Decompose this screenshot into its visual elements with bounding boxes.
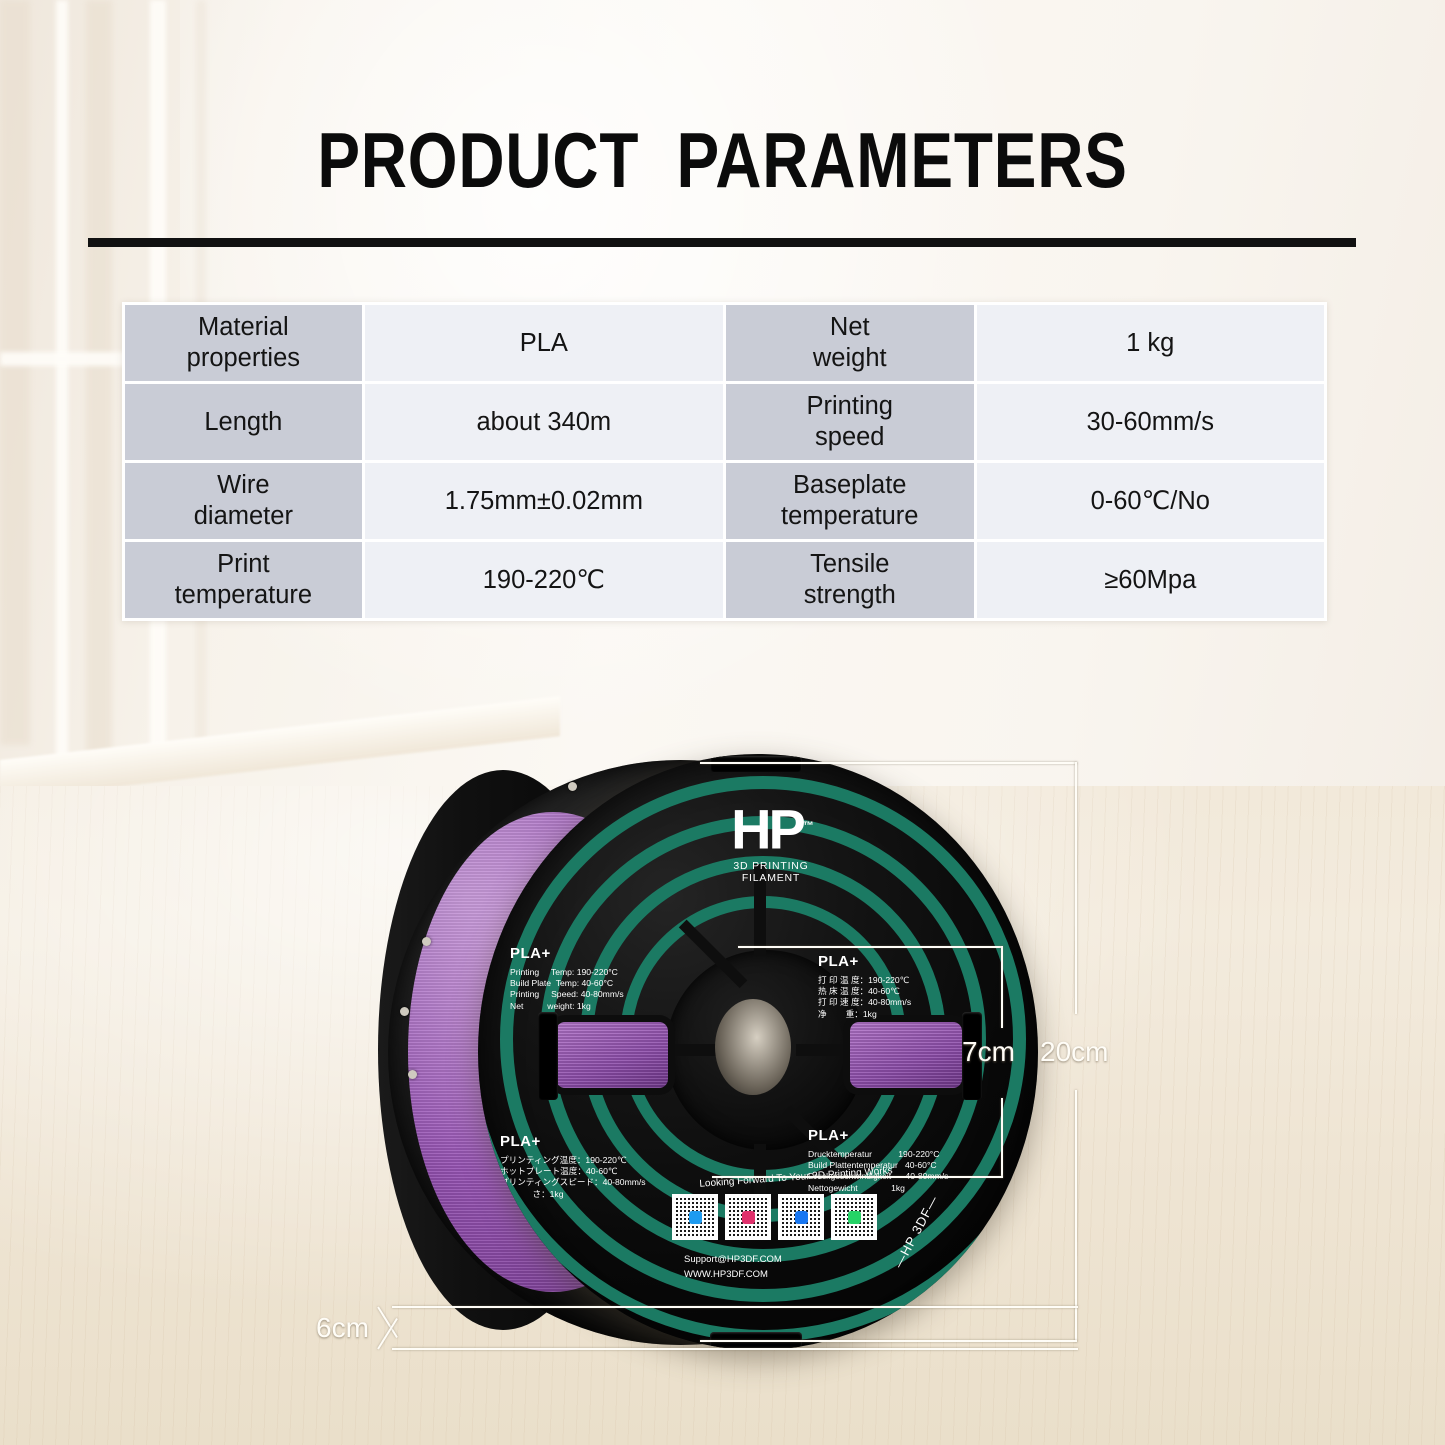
label-japanese: PLA+ プリンティング温度：190-220℃ ホットプレート温度：40-60℃…: [500, 1132, 646, 1200]
whatsapp-qr-icon: [831, 1194, 877, 1240]
spec-value-printing-speed: 30-60mm/s: [977, 384, 1324, 460]
label-zh-title: PLA+: [818, 952, 911, 972]
label-ja-line: 重 さ：1kg: [500, 1189, 646, 1200]
label-english: PLA+ Printing Temp: 190-220°C Build Plat…: [510, 944, 624, 1012]
spec-key-tensile-strength: Tensile strength: [726, 542, 974, 618]
hp-logo-subtitle: 3D PRINTING FILAMENT: [706, 860, 836, 884]
dim-7cm-label: 7cm: [962, 1036, 1015, 1068]
spec-value-print-temperature: 190-220℃: [365, 542, 723, 618]
label-chinese: PLA+ 打 印 温 度：190-220℃ 热 床 温 度：40-60℃ 打 印…: [818, 952, 911, 1020]
label-de-title: PLA+: [808, 1126, 948, 1146]
label-en-line: Printing Speed: 40-80mm/s: [510, 989, 624, 1000]
dim-20cm-vertical-lower: [1075, 1090, 1077, 1342]
spec-value-length: about 340m: [365, 384, 723, 460]
hp-logo: HP™ 3D PRINTING FILAMENT: [706, 798, 836, 884]
filament-window-right: [850, 1022, 962, 1088]
spec-key-material-properties: Material properties: [125, 305, 362, 381]
label-ja-title: PLA+: [500, 1132, 646, 1152]
label-zh-line: 打 印 温 度：190-220℃: [818, 975, 911, 986]
label-zh-line: 净 重：1kg: [818, 1009, 911, 1020]
spec-key-wire-diameter: Wire diameter: [125, 463, 362, 539]
dim-20cm-top-lead: [700, 762, 1077, 764]
dim-20cm-label: 20cm: [1040, 1036, 1108, 1068]
facebook-qr-icon: [778, 1194, 824, 1240]
spec-value-wire-diameter: 1.75mm±0.02mm: [365, 463, 723, 539]
spec-key-net-weight: Net weight: [726, 305, 974, 381]
qr-code-group: [672, 1194, 877, 1240]
spec-value-material-properties: PLA: [365, 305, 723, 381]
specification-table: Material properties PLA Net weight 1 kg …: [122, 302, 1327, 621]
dim-7cm-vertical: [1001, 946, 1003, 1028]
header: PRODUCT PARAMETERS: [0, 118, 1445, 202]
flange-screw-icon: [408, 1070, 417, 1079]
spool-front-flange: HP™ 3D PRINTING FILAMENT PLA+ Printing T…: [478, 754, 1038, 1350]
dim-20cm-bottom-lead: [700, 1340, 1077, 1342]
spec-value-baseplate-temperature: 0-60℃/No: [977, 463, 1324, 539]
dim-20cm-vertical: [1075, 762, 1077, 1014]
label-en-title: PLA+: [510, 944, 624, 964]
label-en-line: Printing Temp: 190-220°C: [510, 967, 624, 978]
filament-window-left: [556, 1022, 668, 1088]
title-underline-rule: [88, 238, 1356, 247]
dim-6cm-lower-lead: [392, 1348, 1078, 1350]
window-mullion-vertical-2: [86, 0, 112, 760]
label-ja-line: プリンティングスピード：40-80mm/s: [500, 1177, 646, 1188]
flange-top-slot: [710, 756, 802, 772]
page-title: PRODUCT PARAMETERS: [130, 118, 1315, 202]
spool-center-hole: [715, 999, 791, 1095]
spec-key-length: Length: [125, 384, 362, 460]
dim-6cm-upper-lead: [392, 1306, 1078, 1308]
table-row: Wire diameter 1.75mm±0.02mm Baseplate te…: [125, 463, 1324, 539]
label-ja-line: プリンティング温度：190-220℃: [500, 1155, 646, 1166]
label-de-line: Drucktemperatur 190-220°C: [808, 1149, 948, 1160]
hp-logo-mark: HP™: [706, 798, 836, 858]
dim-7cm-top-lead: [738, 946, 1003, 948]
dim-6cm-label: 6cm: [316, 1312, 369, 1344]
label-en-line: Net weight: 1kg: [510, 1001, 624, 1012]
label-german: PLA+ Drucktemperatur 190-220°C Build Pla…: [808, 1126, 948, 1194]
spec-value-net-weight: 1 kg: [977, 305, 1324, 381]
table-row: Print temperature 190-220℃ Tensile stren…: [125, 542, 1324, 618]
flange-screw-icon: [400, 1007, 409, 1016]
dim-7cm-bottom-lead: [712, 1176, 1003, 1178]
instagram-qr-icon: [725, 1194, 771, 1240]
label-ja-line: ホットプレート温度：40-60℃: [500, 1166, 646, 1177]
table-row: Material properties PLA Net weight 1 kg: [125, 305, 1324, 381]
contact-info: Support@HP3DF.COM WWW.HP3DF.COM: [684, 1252, 782, 1282]
window-mullion-vertical-4: [0, 0, 30, 745]
flange-screw-icon: [568, 782, 577, 791]
spec-key-baseplate-temperature: Baseplate temperature: [726, 463, 974, 539]
support-email: Support@HP3DF.COM: [684, 1252, 782, 1267]
flange-slot: [538, 1012, 558, 1100]
spec-key-printing-speed: Printing speed: [726, 384, 974, 460]
support-website: WWW.HP3DF.COM: [684, 1267, 782, 1282]
spec-value-tensile-strength: ≥60Mpa: [977, 542, 1324, 618]
dim-7cm-vertical-lower: [1001, 1098, 1003, 1178]
spec-key-print-temperature: Print temperature: [125, 542, 362, 618]
flange-screw-icon: [422, 937, 431, 946]
table-row: Length about 340m Printing speed 30-60mm…: [125, 384, 1324, 460]
label-zh-line: 打 印 速 度：40-80mm/s: [818, 997, 911, 1008]
twitter-qr-icon: [672, 1194, 718, 1240]
trademark-icon: ™: [803, 820, 811, 832]
label-zh-line: 热 床 温 度：40-60℃: [818, 986, 911, 997]
label-en-line: Build Plate Temp: 40-60°C: [510, 978, 624, 989]
window-mullion-vertical-1: [56, 0, 68, 760]
